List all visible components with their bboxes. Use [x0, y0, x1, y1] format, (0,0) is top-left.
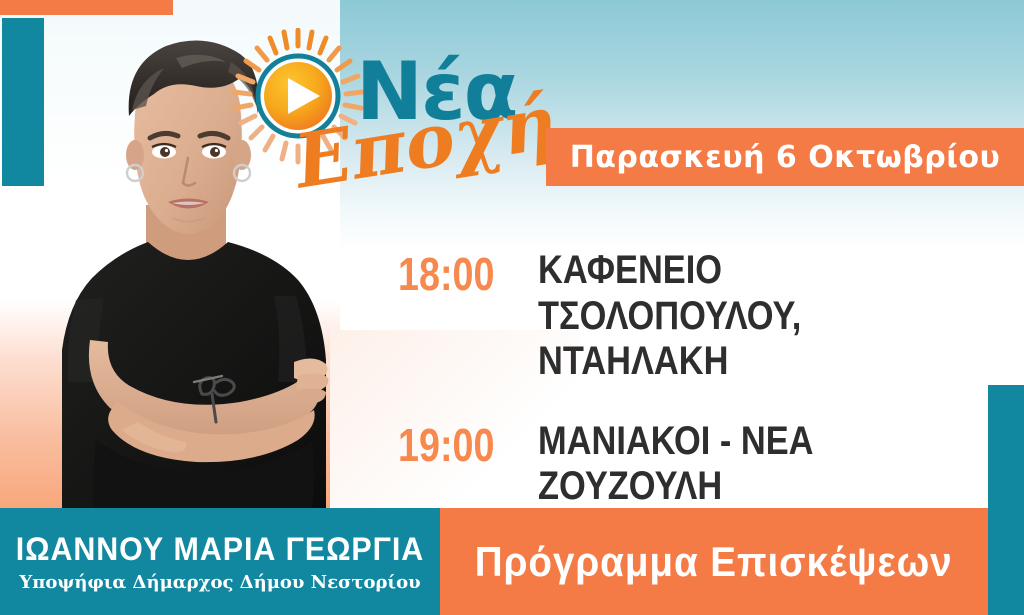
program-banner: Πρόγραμμα Επισκέψεων [440, 508, 988, 615]
program-title: Πρόγραμμα Επισκέψεων [475, 538, 953, 586]
schedule-row: 18:00 ΚΑΦΕΝΕΙΟ ΤΣΟΛΟΠΟΥΛΟΥ, ΝΤΑΗΛΑΚΗ [398, 250, 998, 385]
brand-logo: Νέα Εποχή [228, 28, 558, 213]
date-banner: Παρασκευή 6 Οκτωβρίου [546, 128, 1024, 186]
event-place: ΚΑΦΕΝΕΙΟ ΤΣΟΛΟΠΟΥΛΟΥ, ΝΤΑΗΛΑΚΗ [538, 248, 934, 385]
candidate-role: Υποψήφια Δήμαρχος Δήμου Νεστορίου [19, 572, 420, 593]
candidate-name-banner: ΙΩΑΝΝΟΥ ΜΑΡΙΑ ΓΕΩΡΓΙΑ Υποψήφια Δήμαρχος … [0, 508, 440, 615]
schedule-row: 19:00 ΜΑΝΙΑΚΟΙ - ΝΕΑ ΖΟΥΖΟΥΛΗ [398, 421, 998, 510]
schedule-list: 18:00 ΚΑΦΕΝΕΙΟ ΤΣΟΛΟΠΟΥΛΟΥ, ΝΤΑΗΛΑΚΗ 19:… [398, 250, 998, 540]
campaign-poster: Νέα Εποχή Παρασκευή 6 Οκτωβρίου 18:00 ΚΑ… [0, 0, 1024, 615]
event-time: 19:00 [398, 421, 513, 471]
event-place: ΜΑΝΙΑΚΟΙ - ΝΕΑ ΖΟΥΖΟΥΛΗ [538, 419, 934, 510]
date-text: Παρασκευή 6 Οκτωβρίου [570, 140, 1001, 175]
candidate-name: ΙΩΑΝΝΟΥ ΜΑΡΙΑ ΓΕΩΡΓΙΑ [16, 531, 424, 568]
event-time: 18:00 [398, 250, 513, 300]
